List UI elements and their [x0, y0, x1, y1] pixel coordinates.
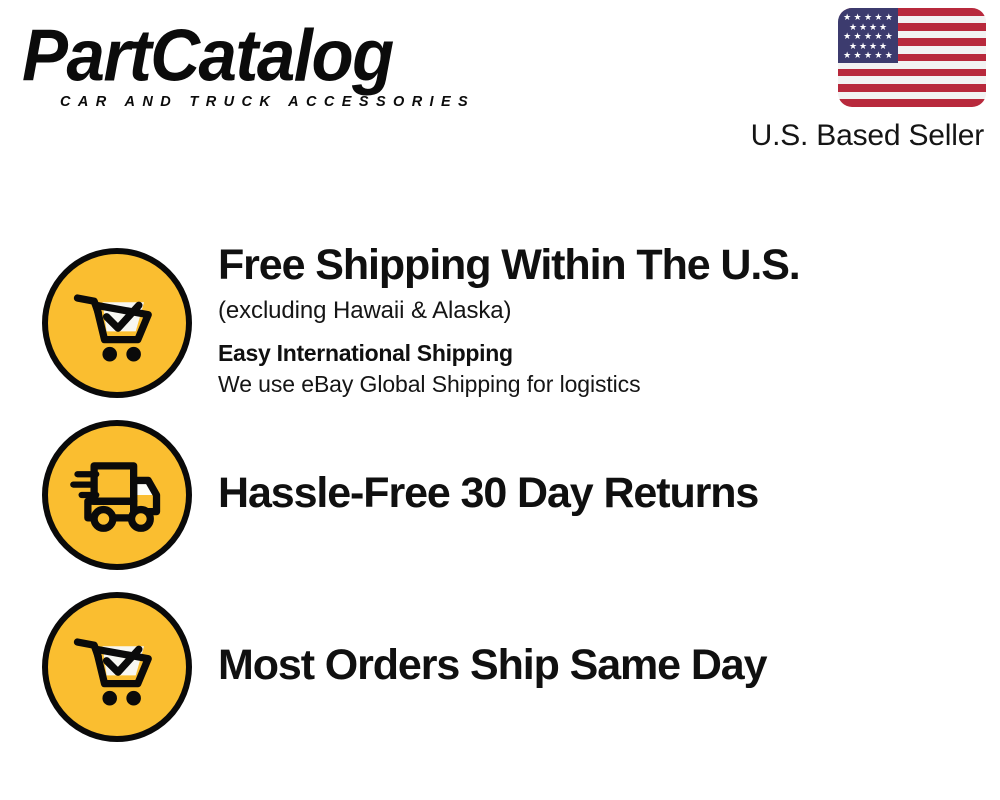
feature-row: Most Orders Ship Same Day — [0, 582, 1000, 754]
partcatalog-logo[interactable]: PartCatalog CAR AND TRUCK ACCESSORIES — [22, 18, 492, 113]
star-icon: ★ — [854, 32, 862, 41]
star-row: ★ ★ ★ ★ ★ — [838, 32, 898, 42]
feature-row: Hassle-Free 30 Day Returns — [0, 410, 1000, 582]
feature-text-block: Hassle-Free 30 Day Returns — [192, 410, 1000, 518]
star-icon: ★ — [843, 13, 851, 22]
feature-text-block: Most Orders Ship Same Day — [192, 582, 1000, 690]
star-icon: ★ — [843, 51, 851, 60]
page-header: PartCatalog CAR AND TRUCK ACCESSORIES — [0, 0, 1000, 175]
star-icon: ★ — [874, 51, 882, 60]
star-icon: ★ — [864, 13, 872, 22]
feature-row: Free Shipping Within The U.S. (excluding… — [0, 238, 1000, 410]
star-icon: ★ — [864, 51, 872, 60]
feature-title: Most Orders Ship Same Day — [218, 640, 1000, 690]
star-icon: ★ — [874, 13, 882, 22]
feature-subtitle: (excluding Hawaii & Alaska) — [218, 295, 1000, 327]
star-row: ★ ★ ★ ★ ★ — [838, 51, 898, 61]
brand-wordmark: PartCatalog — [22, 18, 492, 94]
us-flag-icon: ★ ★ ★ ★ ★ ★ ★ ★ ★ ★ ★ ★ ★ ★ — [838, 8, 986, 107]
us-based-seller-label: U.S. Based Seller — [711, 119, 984, 153]
brand-tagline: CAR AND TRUCK ACCESSORIES — [60, 94, 475, 110]
star-icon: ★ — [854, 13, 862, 22]
delivery-truck-icon — [42, 420, 192, 570]
us-based-seller-badge: ★ ★ ★ ★ ★ ★ ★ ★ ★ ★ ★ ★ ★ ★ — [711, 8, 986, 153]
feature-list: Free Shipping Within The U.S. (excluding… — [0, 238, 1000, 754]
star-icon: ★ — [885, 13, 893, 22]
feature-title: Free Shipping Within The U.S. — [218, 240, 1000, 290]
star-icon: ★ — [885, 32, 893, 41]
flag-canton: ★ ★ ★ ★ ★ ★ ★ ★ ★ ★ ★ ★ ★ ★ — [838, 8, 898, 63]
feature-title: Hassle-Free 30 Day Returns — [218, 468, 1000, 518]
star-icon: ★ — [874, 32, 882, 41]
feature-sub-note: We use eBay Global Shipping for logistic… — [218, 369, 1000, 399]
feature-sub-heading: Easy International Shipping — [218, 338, 1000, 368]
star-row: ★ ★ ★ ★ ★ — [838, 13, 898, 23]
shopping-cart-check-icon — [42, 248, 192, 398]
star-icon: ★ — [885, 51, 893, 60]
shopping-cart-check-icon — [42, 592, 192, 742]
star-icon: ★ — [864, 32, 872, 41]
star-icon: ★ — [843, 32, 851, 41]
star-icon: ★ — [854, 51, 862, 60]
feature-text-block: Free Shipping Within The U.S. (excluding… — [192, 238, 1000, 399]
